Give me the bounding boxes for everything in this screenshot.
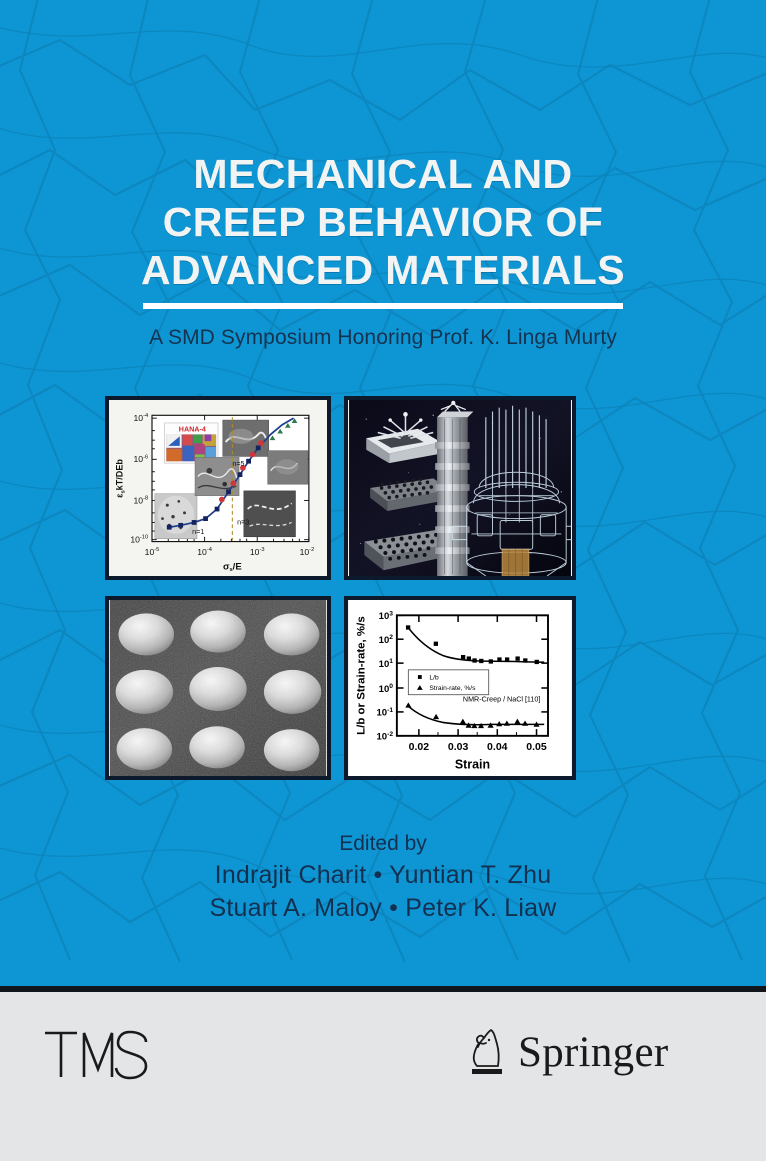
panel-nuclear-fuel-assembly-illustration <box>344 396 576 580</box>
title-line-2: CREEP BEHAVIOR OF <box>0 198 766 246</box>
tms-logo-svg <box>42 1029 154 1081</box>
book-cover: MECHANICAL AND CREEP BEHAVIOR OF ADVANCE… <box>0 0 766 1161</box>
svg-text:L/b: L/b <box>429 674 439 681</box>
title-line-1: MECHANICAL AND <box>0 150 766 198</box>
subtitle: A SMD Symposium Honoring Prof. K. Linga … <box>0 326 766 350</box>
svg-text:σs/E: σs/E <box>223 561 242 573</box>
svg-text:0.02: 0.02 <box>409 741 430 753</box>
knight-horse-icon <box>468 1026 508 1078</box>
title-divider <box>143 303 623 309</box>
svg-text:0.03: 0.03 <box>448 741 469 753</box>
svg-text:0.04: 0.04 <box>487 741 508 753</box>
svg-text:n=1: n=1 <box>192 528 204 536</box>
sem-array-svg <box>109 600 327 776</box>
svg-text:L/b or Strain-rate, %/s: L/b or Strain-rate, %/s <box>355 616 367 735</box>
svg-text:HANA-4: HANA-4 <box>179 426 206 434</box>
svg-text:n=3: n=3 <box>237 518 249 526</box>
fuel-assembly-svg <box>348 400 572 576</box>
panel-nmr-creep-strain-plot: 103 102 101 100 10-1 10-2 <box>344 596 576 780</box>
editor-line-2: Stuart A. Maloy • Peter K. Liaw <box>0 894 766 923</box>
panel-sem-micro-indentation-array <box>105 596 331 780</box>
svg-text:n=5: n=5 <box>232 460 244 468</box>
panel-creep-deformation-mechanism-plot: 10-5 10-4 10-3 10-2 10-4 10-6 10-8 10-10… <box>105 396 331 580</box>
springer-wordmark: Springer <box>518 1031 669 1074</box>
svg-text:NMR-Creep / NaCl [110]: NMR-Creep / NaCl [110] <box>463 695 540 703</box>
svg-text:Strain-rate, %/s: Strain-rate, %/s <box>429 685 476 692</box>
editor-line-1: Indrajit Charit • Yuntian T. Zhu <box>0 861 766 890</box>
springer-logo: Springer <box>468 1026 669 1078</box>
svg-text:Strain: Strain <box>455 757 490 771</box>
svg-text:0.05: 0.05 <box>526 741 547 753</box>
nmr-creep-plot-svg: 103 102 101 100 10-1 10-2 <box>348 600 572 776</box>
creep-plot-svg: 10-5 10-4 10-3 10-2 10-4 10-6 10-8 10-10… <box>109 400 327 576</box>
tms-logo <box>42 1029 154 1086</box>
edited-by-label: Edited by <box>0 832 766 856</box>
title-block: MECHANICAL AND CREEP BEHAVIOR OF ADVANCE… <box>0 150 766 294</box>
title-line-3: ADVANCED MATERIALS <box>0 246 766 294</box>
